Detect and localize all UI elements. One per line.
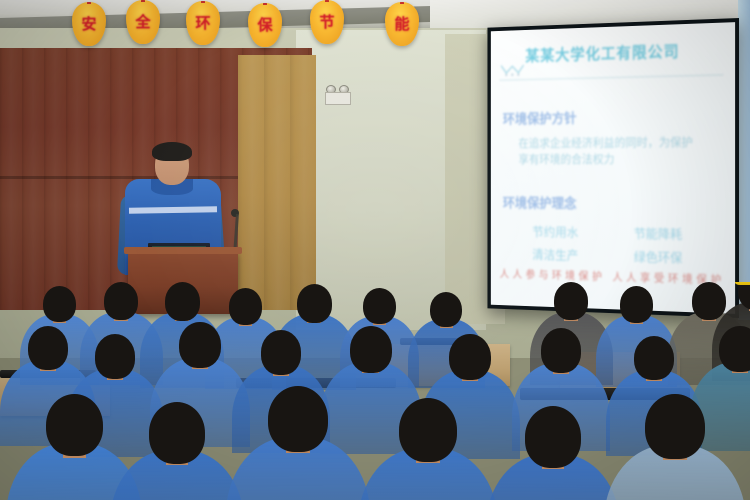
audience-member-head (229, 288, 263, 325)
projection-screen: 某某大学化工有限公司 环境保护方针 在追求企业经济利益的同时，为保护 享有环境的… (487, 18, 739, 318)
emergency-exit-light-icon (325, 85, 351, 105)
slide-title: 某某大学化工有限公司 (525, 37, 723, 66)
photo-scene: 安全环保节能 某某大学化工有限公司 环境保护方针 在追求企业经济利益的同时，为保… (0, 0, 750, 500)
audience-member-head (554, 282, 588, 320)
projection-screen-surface: 某某大学化工有限公司 环境保护方针 在追求企业经济利益的同时，为保护 享有环境的… (491, 22, 735, 314)
audience-member-head (165, 282, 200, 321)
slide-philosophy-item: 节能降耗 (634, 223, 724, 243)
tan-wood-wall-panel (238, 55, 316, 310)
audience-member-head (43, 286, 76, 322)
lectern-top-surface (124, 247, 242, 254)
audience-member (486, 406, 620, 500)
audience-member-head (525, 406, 581, 468)
audience-member-head (634, 336, 674, 380)
audience-member-head (449, 334, 491, 380)
slide-heading-policy: 环境保护方针 (503, 106, 724, 128)
audience-member-head (399, 398, 457, 462)
ceiling-banner-glyph: 节 (319, 15, 334, 30)
slide-body-policy: 在追求企业经济利益的同时，为保护 享有环境的合法权力 (518, 134, 723, 169)
audience-member-head (104, 282, 138, 320)
audience-member-head (430, 292, 462, 327)
audience-member-head (28, 326, 68, 370)
slide-heading-philosophy: 环境保护理念 (503, 193, 724, 214)
secondary-screen-edge (738, 0, 750, 320)
slide-philosophy-item: 清洁生产 (532, 244, 617, 264)
audience-member-head (261, 330, 302, 375)
ceiling-banner-glyph: 保 (257, 18, 272, 33)
slide-philosophy-item: 节约用水 (532, 222, 617, 242)
audience-area (0, 282, 750, 500)
presenter-hair (152, 142, 192, 161)
slide-philosophy-item: 绿色环保 (634, 247, 724, 268)
safety-hardhat (735, 282, 750, 285)
audience-member-head (268, 386, 328, 452)
audience-member-head (350, 326, 392, 373)
slide-title-divider (499, 74, 723, 80)
audience-member-head (719, 326, 750, 372)
ceiling-banner-glyph: 能 (394, 17, 409, 32)
audience-member-head (363, 288, 396, 324)
audience-member-head (541, 328, 582, 373)
slide-philosophy-grid: 节约用水 节能降耗 清洁生产 绿色环保 (532, 222, 723, 268)
slide-content: 某某大学化工有限公司 环境保护方针 在追求企业经济利益的同时，为保护 享有环境的… (491, 22, 735, 314)
ceiling-banner-glyph: 环 (195, 16, 210, 31)
audience-member (226, 386, 370, 500)
audience-member (358, 398, 498, 500)
audience-member-head (95, 334, 136, 379)
audience-member (604, 394, 746, 500)
audience-member-head (297, 284, 332, 323)
audience-member-head (149, 402, 205, 464)
audience-member-head (620, 286, 654, 323)
audience-member-head (46, 394, 103, 456)
company-logo-icon (499, 62, 525, 78)
audience-member-head (645, 394, 704, 459)
audience-member (110, 402, 244, 500)
ceiling-banner-glyph: 安 (81, 17, 96, 32)
ceiling-banner-glyph: 全 (135, 15, 150, 30)
audience-member-head (179, 322, 221, 368)
emergency-light-body (325, 92, 351, 105)
